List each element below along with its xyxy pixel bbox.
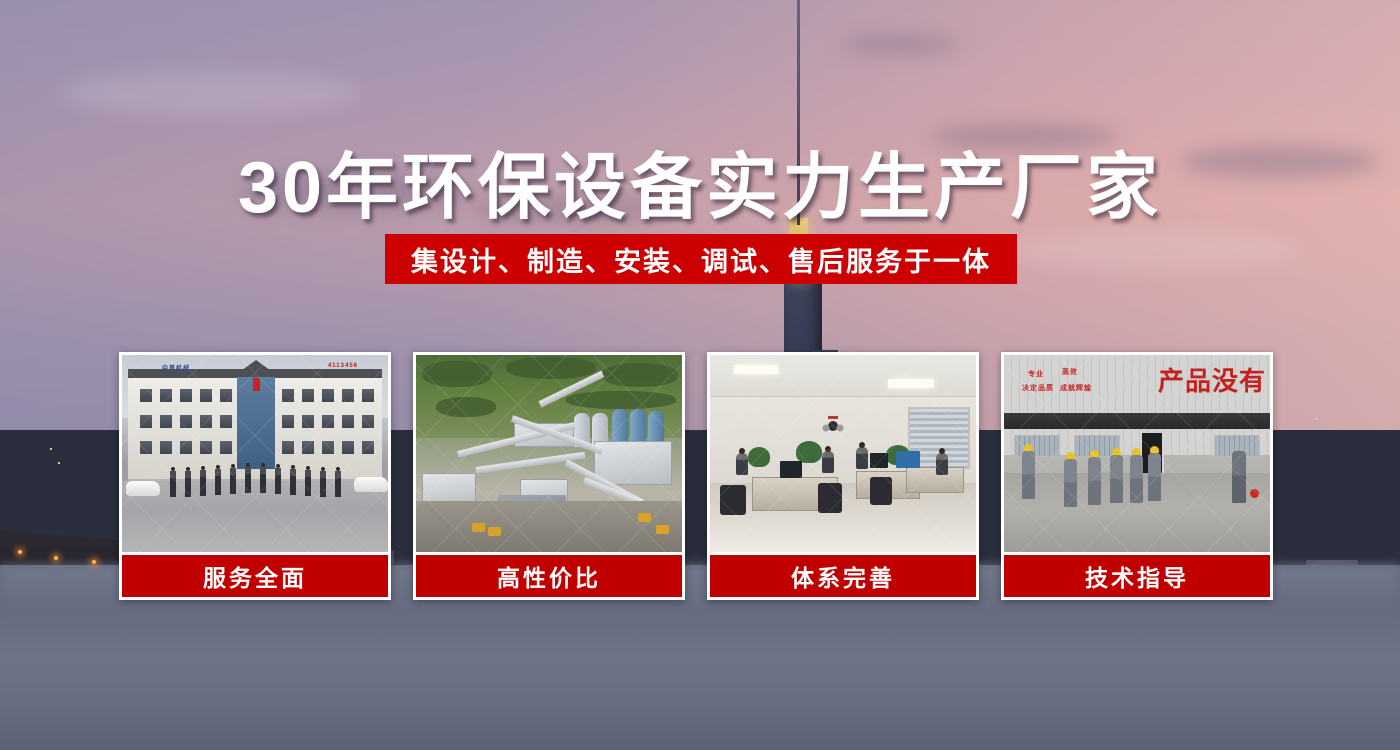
company-headquarters-photo: 中基机械 4113456	[122, 355, 388, 552]
factory-sign-text: 产品没有	[1158, 361, 1266, 398]
banner-subtitle-text: 集设计、制造、安装、调试、售后服务于一体	[411, 240, 991, 279]
building-phone-text: 4113456	[328, 363, 358, 369]
feature-card-list: 中基机械 4113456	[119, 352, 1273, 600]
banner-subtitle-bar: 集设计、制造、安装、调试、售后服务于一体	[385, 234, 1017, 284]
banner-headline: 30年环保设备实力生产厂家	[0, 128, 1400, 233]
feature-card-caption: 体系完善	[710, 552, 976, 597]
office-interior-photo	[710, 355, 976, 552]
building-sign-text: 中基机械	[162, 363, 190, 372]
factory-sign-small-4: 成就辉煌	[1060, 385, 1092, 394]
factory-sign-small-3: 决定品质	[1022, 385, 1054, 394]
feature-card-caption: 高性价比	[416, 552, 682, 597]
feature-card[interactable]: 体系完善	[707, 352, 979, 600]
wall-art	[818, 413, 848, 439]
factory-sign-small-2: 高效	[1062, 369, 1078, 378]
feature-card[interactable]: 产品没有 专业 高效 决定品质 成就辉煌 技术指导	[1001, 352, 1273, 600]
feature-card[interactable]: 中基机械 4113456	[119, 352, 391, 600]
promotional-banner: 30年环保设备实力生产厂家 集设计、制造、安装、调试、售后服务于一体 中基机械 …	[0, 0, 1400, 750]
feature-card-caption: 技术指导	[1004, 552, 1270, 597]
workshop-training-photo: 产品没有 专业 高效 决定品质 成就辉煌	[1004, 355, 1270, 552]
production-plant-aerial-photo	[416, 355, 682, 552]
feature-card-caption: 服务全面	[122, 552, 388, 597]
feature-card[interactable]: 高性价比	[413, 352, 685, 600]
factory-sign-small-1: 专业	[1028, 371, 1044, 380]
